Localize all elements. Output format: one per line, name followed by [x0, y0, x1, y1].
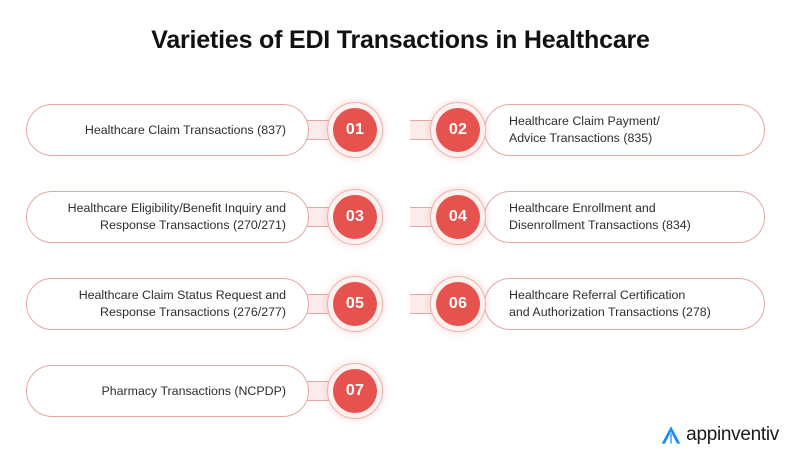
list-item-02[interactable]: Healthcare Claim Payment/Advice Transact… — [410, 100, 778, 160]
items-grid: Healthcare Claim Transactions (837) 01 H… — [0, 100, 801, 448]
item-row: Healthcare Claim Transactions (837) 01 H… — [0, 100, 801, 187]
item-label: Healthcare Referral Certificationand Aut… — [509, 287, 711, 321]
item-number-badge: 01 — [327, 102, 383, 158]
item-number-badge: 07 — [327, 363, 383, 419]
item-connector — [307, 294, 329, 314]
item-number-badge: 05 — [327, 276, 383, 332]
item-connector — [307, 207, 329, 227]
item-number: 07 — [333, 369, 377, 413]
item-number: 02 — [436, 108, 480, 152]
item-label: Healthcare Enrollment andDisenrollment T… — [509, 200, 691, 234]
item-number-badge: 04 — [430, 189, 486, 245]
item-connector — [410, 294, 432, 314]
list-item-05[interactable]: Healthcare Claim Status Request andRespo… — [26, 274, 391, 334]
item-label: Healthcare Claim Transactions (837) — [85, 122, 286, 139]
item-number: 06 — [436, 282, 480, 326]
item-label: Healthcare Eligibility/Benefit Inquiry a… — [68, 200, 286, 234]
appinventiv-logo: appinventiv — [658, 422, 779, 448]
infographic-page: Varieties of EDI Transactions in Healthc… — [0, 0, 801, 464]
item-number-badge: 06 — [430, 276, 486, 332]
item-pill[interactable]: Pharmacy Transactions (NCPDP) — [26, 365, 309, 417]
logo-wordmark: appinventiv — [686, 424, 779, 446]
item-row: Healthcare Eligibility/Benefit Inquiry a… — [0, 187, 801, 274]
item-connector — [307, 381, 329, 401]
item-connector — [410, 207, 432, 227]
item-number-badge: 02 — [430, 102, 486, 158]
item-label: Healthcare Claim Payment/Advice Transact… — [509, 113, 660, 147]
list-item-06[interactable]: Healthcare Referral Certificationand Aut… — [410, 274, 778, 334]
list-item-07[interactable]: Pharmacy Transactions (NCPDP) 07 — [26, 361, 391, 421]
item-number: 03 — [333, 195, 377, 239]
list-item-03[interactable]: Healthcare Eligibility/Benefit Inquiry a… — [26, 187, 391, 247]
item-number: 04 — [436, 195, 480, 239]
list-item-01[interactable]: Healthcare Claim Transactions (837) 01 — [26, 100, 391, 160]
item-pill[interactable]: Healthcare Claim Transactions (837) — [26, 104, 309, 156]
item-number-badge: 03 — [327, 189, 383, 245]
list-item-04[interactable]: Healthcare Enrollment andDisenrollment T… — [410, 187, 778, 247]
item-row: Healthcare Claim Status Request andRespo… — [0, 274, 801, 361]
item-pill[interactable]: Healthcare Claim Payment/Advice Transact… — [484, 104, 765, 156]
item-pill[interactable]: Healthcare Referral Certificationand Aut… — [484, 278, 765, 330]
item-label: Healthcare Claim Status Request andRespo… — [79, 287, 286, 321]
item-pill[interactable]: Healthcare Enrollment andDisenrollment T… — [484, 191, 765, 243]
item-connector — [307, 120, 329, 140]
item-pill[interactable]: Healthcare Eligibility/Benefit Inquiry a… — [26, 191, 309, 243]
item-label: Pharmacy Transactions (NCPDP) — [101, 383, 286, 400]
item-pill[interactable]: Healthcare Claim Status Request andRespo… — [26, 278, 309, 330]
item-number: 01 — [333, 108, 377, 152]
appinventiv-a-mark-icon — [658, 422, 684, 448]
page-title: Varieties of EDI Transactions in Healthc… — [0, 26, 801, 55]
item-connector — [410, 120, 432, 140]
item-number: 05 — [333, 282, 377, 326]
